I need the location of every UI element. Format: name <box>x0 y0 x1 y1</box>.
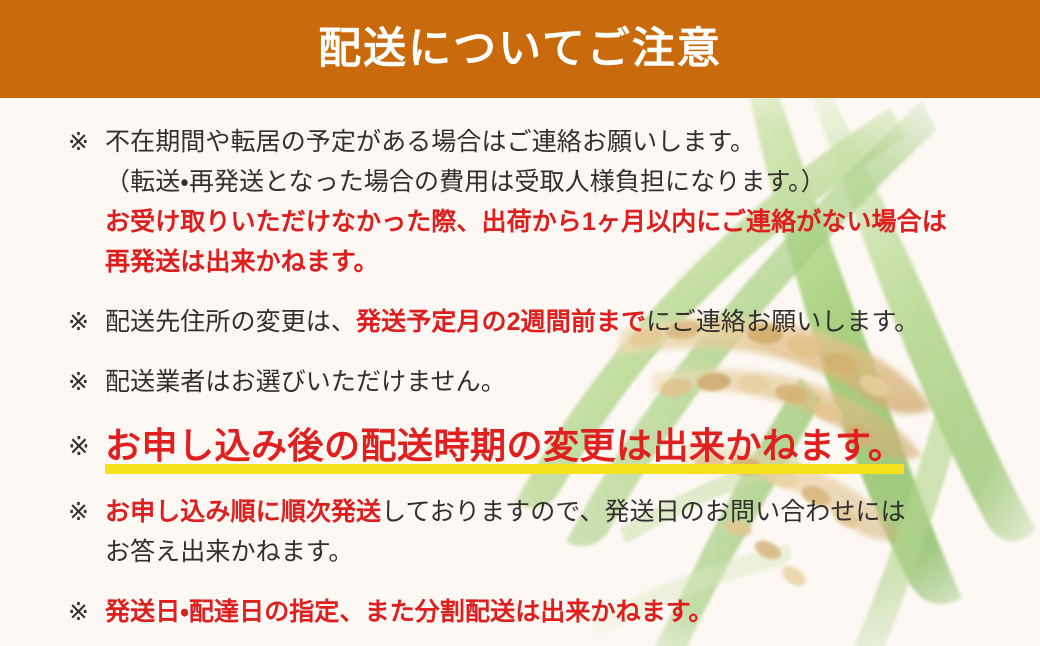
notice-item-no-schedule-change: ※ お申し込み後の配送時期の変更は出来かねます。 <box>0 422 1040 470</box>
notice-text: 配送先住所の変更は、 <box>105 308 356 336</box>
notice-line: 配送業者はお選びいただけません。 <box>105 362 1040 402</box>
notice-text-emphasis: 発送日・配達日の指定、また分割配送は出来かねます。 <box>105 598 714 626</box>
notice-item-absence-relocation: ※ 不在期間や転居の予定がある場合はご連絡お願いします。 （転送・再発送となった… <box>0 122 1040 282</box>
notice-line: お申し込み順に順次発送しておりますので、発送日のお問い合わせには <box>105 492 1040 532</box>
notice-line: 発送日・配達日の指定、また分割配送は出来かねます。 <box>105 592 1040 632</box>
bullet-icon: ※ <box>68 122 89 162</box>
notice-list: ※ 不在期間や転居の予定がある場合はご連絡お願いします。 （転送・再発送となった… <box>0 98 1040 646</box>
header-banner: 配送についてご注意 <box>0 0 1040 98</box>
notice-text: 不在期間や転居の予定がある場合はご連絡お願いします。 <box>105 128 755 156</box>
highlighted-text-wrapper: お申し込み後の配送時期の変更は出来かねます。 <box>105 422 904 470</box>
notice-text-emphasis: お申し込み順に順次発送 <box>105 498 381 526</box>
page-title: 配送についてご注意 <box>318 28 722 71</box>
notice-line: 再発送は出来かねます。 <box>105 242 1040 282</box>
notice-text-emphasis: お受け取りいただけなかった際、出荷から1ヶ月以内にご連絡がない場合は <box>105 208 947 236</box>
notice-text: にご連絡お願いします。 <box>646 308 919 336</box>
notice-line: お受け取りいただけなかった際、出荷から1ヶ月以内にご連絡がない場合は <box>105 202 1040 242</box>
notice-item-carrier-selection: ※ 配送業者はお選びいただけません。 <box>0 362 1040 402</box>
notice-text: 配送業者はお選びいただけません。 <box>105 368 506 396</box>
notice-item-shipping-order: ※ お申し込み順に順次発送しておりますので、発送日のお問い合わせには お答え出来… <box>0 492 1040 572</box>
notice-text-emphasis: 発送予定月の2週間前まで <box>356 308 646 336</box>
notice-line: 不在期間や転居の予定がある場合はご連絡お願いします。 <box>105 122 1040 162</box>
bullet-icon: ※ <box>68 592 89 632</box>
notice-page: 配送についてご注意 ※ 不在期間や転居の予定がある場合はご連絡お願いします。 （… <box>0 0 1040 646</box>
notice-line: お答え出来かねます。 <box>105 532 1040 572</box>
bullet-icon: ※ <box>68 302 89 342</box>
notice-line: お申し込み後の配送時期の変更は出来かねます。 <box>105 422 1040 470</box>
notice-item-address-change: ※ 配送先住所の変更は、発送予定月の2週間前までにご連絡お願いします。 <box>0 302 1040 342</box>
bullet-icon: ※ <box>68 362 89 402</box>
bullet-icon: ※ <box>68 492 89 532</box>
notice-text-emphasis: 再発送は出来かねます。 <box>105 248 379 276</box>
notice-text: （転送・再発送となった場合の費用は受取人様負担になります。） <box>105 168 826 196</box>
notice-text: お答え出来かねます。 <box>105 538 354 566</box>
notice-text: しておりますので、発送日のお問い合わせには <box>381 498 906 526</box>
notice-text-emphasis: お申し込み後の配送時期の変更は出来かねます。 <box>105 425 904 466</box>
bullet-icon: ※ <box>68 422 90 470</box>
notice-item-no-date-designation: ※ 発送日・配達日の指定、また分割配送は出来かねます。 <box>0 592 1040 632</box>
notice-line: （転送・再発送となった場合の費用は受取人様負担になります。） <box>105 162 1040 202</box>
notice-line: 配送先住所の変更は、発送予定月の2週間前までにご連絡お願いします。 <box>105 302 1040 342</box>
